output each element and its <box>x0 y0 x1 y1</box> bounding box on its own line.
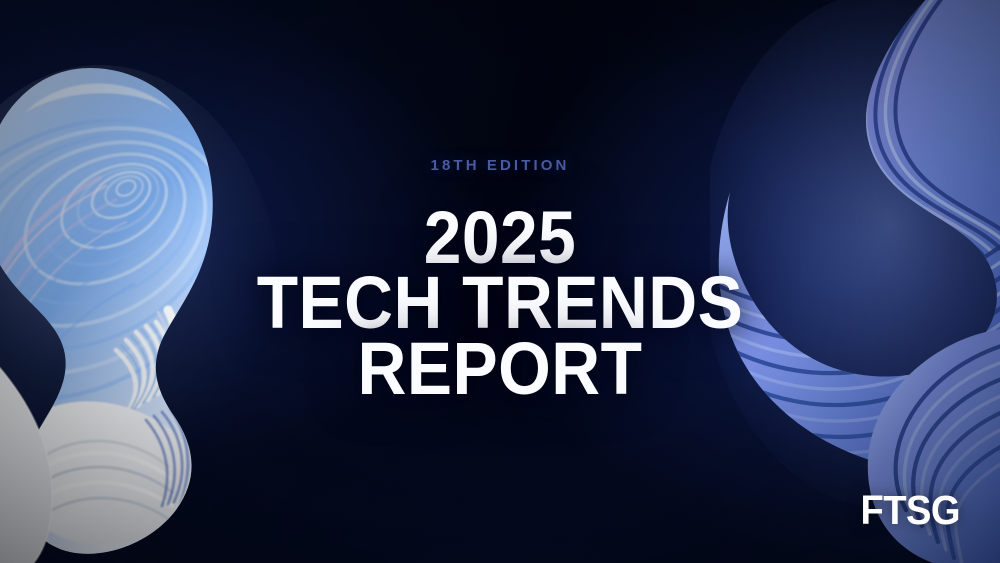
report-cover-page: 18TH EDITION 2025 TECH TRENDS REPORT FTS… <box>0 0 1000 563</box>
edition-label: 18TH EDITION <box>0 158 1000 173</box>
cover-title-block: 18TH EDITION 2025 TECH TRENDS REPORT <box>0 158 1000 401</box>
ftsg-logo: FTSG <box>861 490 960 531</box>
title-line-report: REPORT <box>43 336 958 401</box>
